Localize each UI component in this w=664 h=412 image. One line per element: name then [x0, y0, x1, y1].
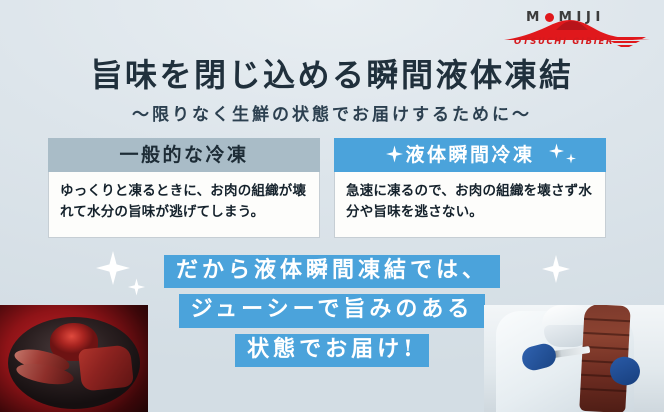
message-line-text: だから液体瞬間凍結では、 — [164, 255, 500, 288]
sparkle-icon — [386, 145, 403, 163]
card-flash-body: 急速に凍るので、お肉の組織を壊さず水分や旨味を逃さない。 — [334, 172, 606, 238]
loin-cut-shape — [78, 344, 134, 391]
red-waves-icon — [604, 36, 646, 49]
message-line: だから液体瞬間凍結では、 — [0, 255, 664, 288]
photo-processing-worker — [484, 305, 664, 412]
page-title: 旨味を閉じ込める瞬間液体凍結 — [0, 50, 664, 96]
card-normal-title: 一般的な冷凍 — [48, 138, 320, 172]
card-normal-text: ゆっくりと凍るときに、お肉の組織が壊れて水分の旨味が逃げてしまう。 — [60, 181, 308, 224]
card-normal-body: ゆっくりと凍るときに、お肉の組織が壊れて水分の旨味が逃げてしまう。 — [48, 172, 320, 238]
brand-logo: M MIJI OTSUCHI GIBIER — [504, 6, 650, 52]
card-flash-freezing: 液体瞬間冷凍 急速に凍るので、お肉の組織を壊さず水分や旨味を逃さない。 — [334, 138, 606, 238]
brand-tagline: OTSUCHI GIBIER — [514, 37, 614, 47]
page-subtitle: ～限りなく生鮮の状態でお届けするために～ — [0, 100, 664, 125]
message-line-text: 状態でお届け! — [235, 334, 429, 367]
card-flash-title: 液体瞬間冷凍 — [405, 144, 534, 166]
card-normal-freezing: 一般的な冷凍 ゆっくりと凍るときに、お肉の組織が壊れて水分の旨味が逃げてしまう。 — [48, 138, 320, 238]
sparkle-icon — [549, 143, 564, 159]
message-line-text: ジューシーで旨みのある — [179, 294, 486, 327]
photo-venison-plate — [0, 305, 148, 412]
sparkle-icon — [566, 153, 576, 164]
card-flash-text: 急速に凍るので、お肉の組織を壊さず水分や旨味を逃さない。 — [346, 181, 594, 224]
card-flash-title-bar: 液体瞬間冷凍 — [334, 138, 606, 172]
poster-canvas: M MIJI OTSUCHI GIBIER 旨味を閉じ込める瞬間液体凍結 ～限り… — [0, 0, 664, 412]
